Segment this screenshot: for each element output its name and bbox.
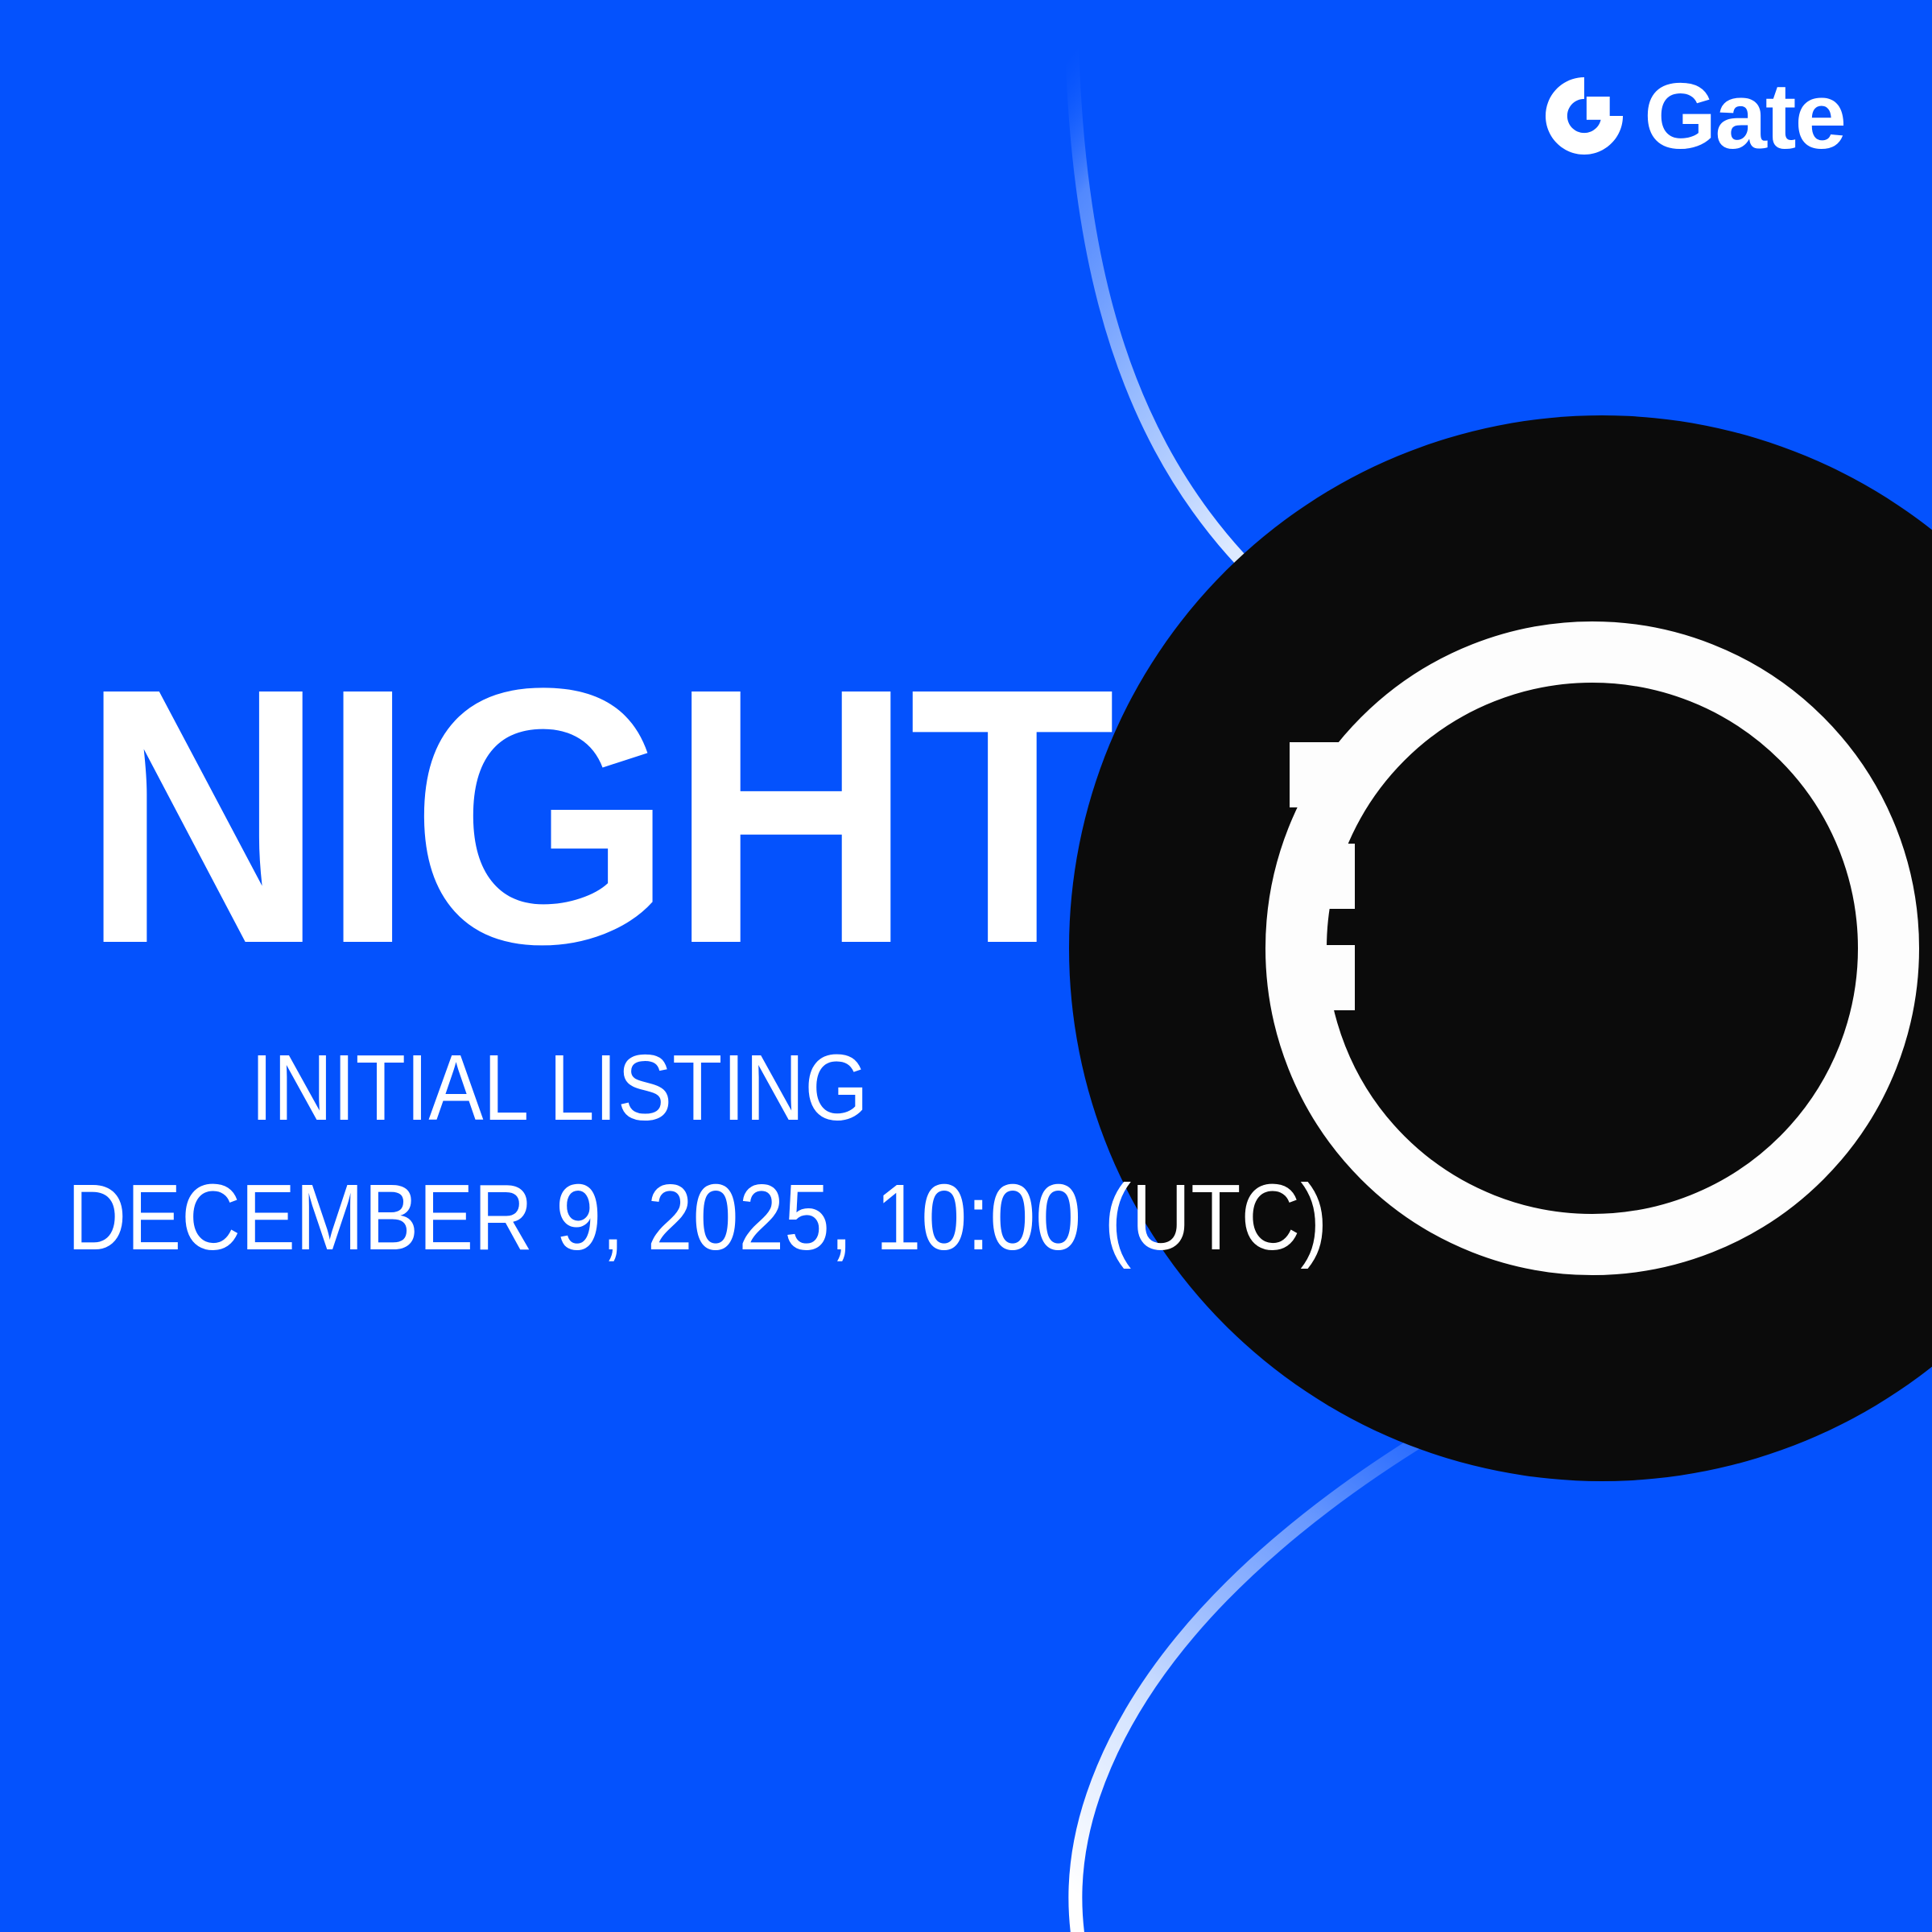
- token-bar: [1290, 945, 1355, 1010]
- gate-wordmark: Gate: [1644, 77, 1845, 155]
- token-symbol-title: NIGHT: [0, 675, 1048, 959]
- token-ring: [1265, 621, 1919, 1275]
- listing-datetime: DECEMBER 9, 2025, 10:00 (UTC): [67, 1166, 1051, 1270]
- token-bars: [1290, 742, 1355, 1010]
- event-label: INITIAL LISTING: [67, 1036, 1051, 1141]
- token-bar: [1290, 742, 1355, 807]
- promo-canvas: Gate NIGHT INITIAL LISTING DECEMBER 9, 2…: [0, 0, 1932, 1932]
- announcement-copy: NIGHT INITIAL LISTING DECEMBER 9, 2025, …: [0, 675, 1127, 1270]
- token-bar: [1290, 844, 1355, 909]
- gate-brand-logo[interactable]: Gate: [1546, 74, 1845, 158]
- listing-details: INITIAL LISTING DECEMBER 9, 2025, 10:00 …: [0, 1036, 1119, 1271]
- gate-circle-notch-icon: [1546, 77, 1623, 155]
- night-token-icon: [1069, 415, 1932, 1481]
